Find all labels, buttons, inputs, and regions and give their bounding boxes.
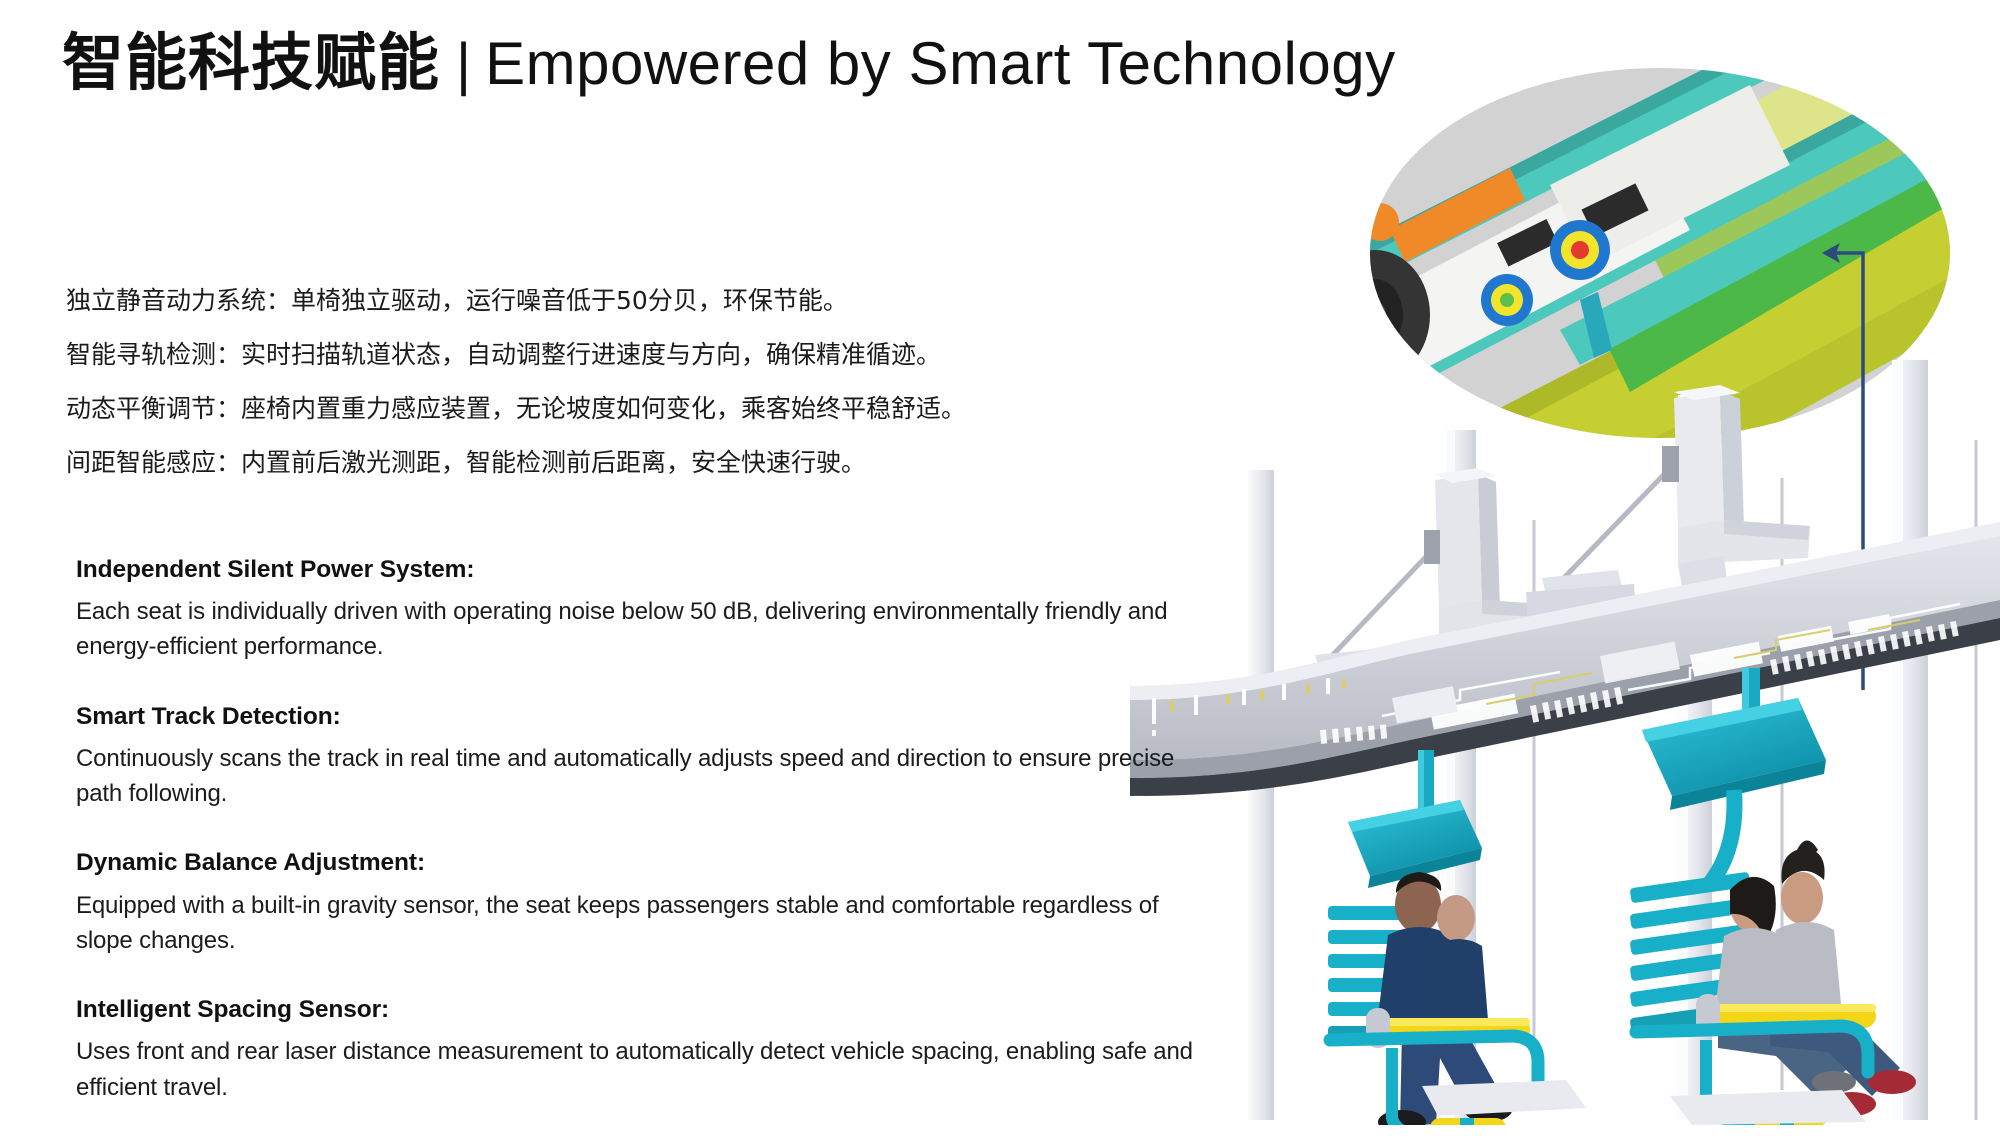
feature-body: Continuously scans the track in real tim… — [76, 741, 1196, 812]
gondola-seat-left — [1328, 750, 1538, 1125]
monorail-scene — [1130, 360, 2000, 1125]
chinese-feature-line-1: 独立静音动力系统：单椅独立驱动，运行噪音低于50分贝，环保节能。 — [66, 288, 1096, 313]
chinese-feature-line-4: 间距智能感应：内置前后激光测距，智能检测前后距离，安全快速行驶。 — [66, 450, 1096, 475]
motor-disc-front — [1550, 220, 1610, 280]
feature-block-smart-track-detection: Smart Track Detection: Continuously scan… — [76, 703, 1196, 812]
drive-wheel-rear — [1242, 177, 1326, 283]
motor-disc-rear — [1481, 274, 1533, 326]
feature-body: Uses front and rear laser distance measu… — [76, 1034, 1196, 1105]
feature-heading: Independent Silent Power System: — [76, 556, 1196, 584]
feature-heading: Smart Track Detection: — [76, 703, 1196, 731]
chinese-feature-line-2: 智能寻轨检测：实时扫描轨道状态，自动调整行进速度与方向，确保精准循迹。 — [66, 342, 1096, 367]
drive-wheel-front — [1320, 250, 1430, 380]
product-illustration — [1130, 0, 2000, 1125]
title-separator: | — [456, 36, 471, 94]
english-feature-list: Independent Silent Power System: Each se… — [76, 556, 1196, 1143]
support-column-far-left — [1248, 470, 1274, 1120]
feature-body: Each seat is individually driven with op… — [76, 594, 1196, 665]
feature-body: Equipped with a built-in gravity sensor,… — [76, 888, 1196, 959]
feature-heading: Intelligent Spacing Sensor: — [76, 996, 1196, 1024]
support-column-right — [1892, 360, 1928, 1120]
feature-heading: Dynamic Balance Adjustment: — [76, 849, 1196, 877]
chinese-feature-list: 独立静音动力系统：单椅独立驱动，运行噪音低于50分贝，环保节能。 智能寻轨检测：… — [66, 288, 1096, 504]
feature-block-intelligent-spacing-sensor: Intelligent Spacing Sensor: Uses front a… — [76, 996, 1196, 1105]
chinese-feature-line-3: 动态平衡调节：座椅内置重力感应装置，无论坡度如何变化，乘客始终平稳舒适。 — [66, 396, 1096, 421]
page-title-chinese: 智能科技赋能 — [62, 32, 440, 94]
gondola-seat-right — [1630, 668, 1916, 1125]
feature-block-independent-silent-power-system: Independent Silent Power System: Each se… — [76, 556, 1196, 665]
page-title-english: Empowered by Smart Technology — [485, 34, 1396, 94]
feature-block-dynamic-balance-adjustment: Dynamic Balance Adjustment: Equipped wit… — [76, 849, 1196, 958]
page-title: 智能科技赋能 | Empowered by Smart Technology — [62, 32, 1396, 94]
